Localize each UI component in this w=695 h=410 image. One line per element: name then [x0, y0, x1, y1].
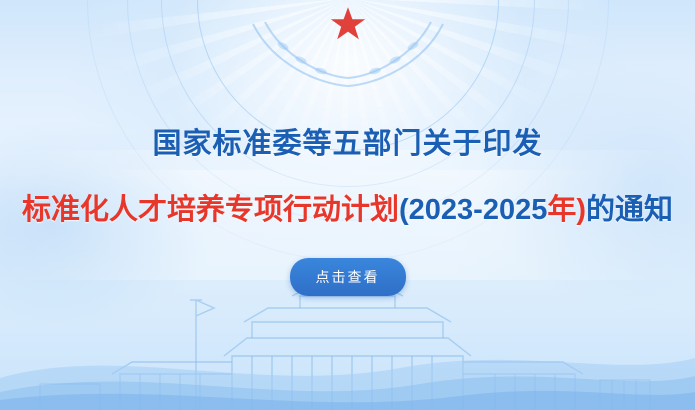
title-years-range: (2023-2025	[399, 194, 547, 226]
announcement-banner: 国家标准委等五部门关于印发 标准化人才培养专项行动计划(2023-2025年)的…	[0, 0, 695, 410]
page-title-line-2: 标准化人才培养专项行动计划(2023-2025年)的通知	[0, 186, 695, 228]
page-title-line-1: 国家标准委等五部门关于印发	[0, 120, 695, 162]
banner-content: 国家标准委等五部门关于印发 标准化人才培养专项行动计划(2023-2025年)的…	[0, 0, 695, 296]
title-year-suffix: 年)	[547, 194, 586, 226]
title-highlight-plan-name: 标准化人才培养专项行动计划	[22, 194, 399, 226]
wave-ribbons-decoration	[0, 300, 695, 410]
cta-container: 点击查看	[0, 258, 695, 296]
view-details-button[interactable]: 点击查看	[290, 258, 406, 296]
title-notice-suffix: 的通知	[586, 194, 673, 226]
